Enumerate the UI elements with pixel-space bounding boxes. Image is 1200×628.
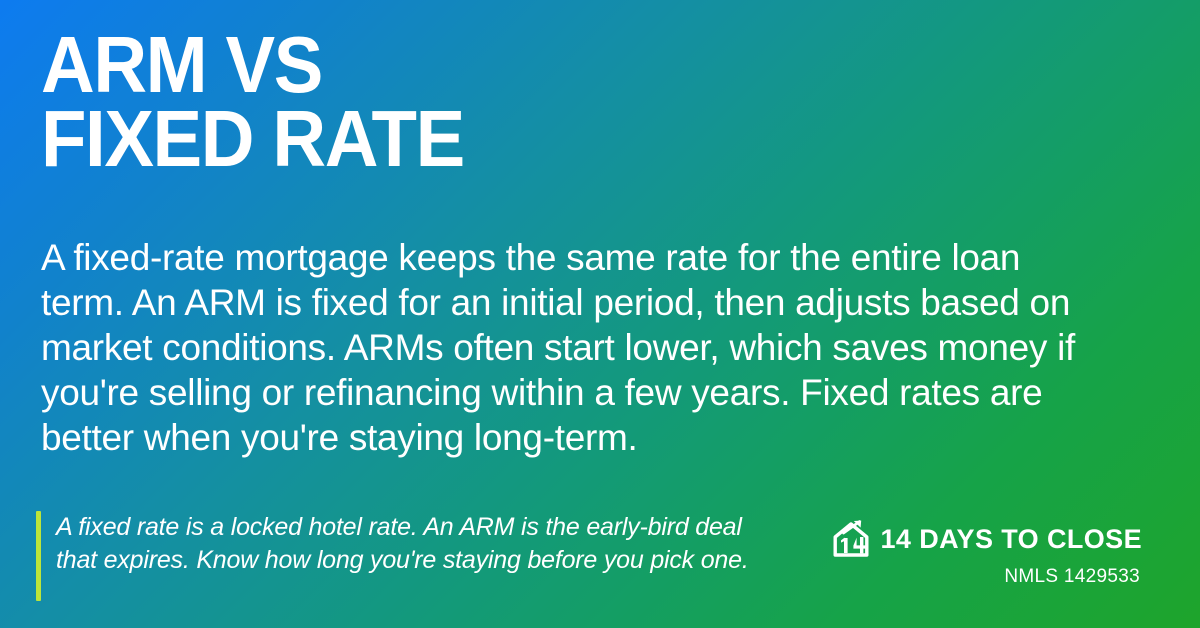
brand-name: 14 DAYS TO CLOSE bbox=[881, 526, 1143, 553]
headline-line-1: ARM VS bbox=[41, 28, 1055, 102]
brand-row: 14 DAYS TO CLOSE bbox=[832, 520, 1143, 558]
brand-nmls: NMLS 1429533 bbox=[832, 567, 1141, 586]
house-14-arrow-icon bbox=[832, 520, 872, 558]
quote-text: A fixed rate is a locked hotel rate. An … bbox=[41, 511, 756, 601]
promo-card: ARM VS FIXED RATE A fixed-rate mortgage … bbox=[0, 0, 1200, 628]
headline-line-2: FIXED RATE bbox=[41, 102, 1055, 176]
takeaway-quote: A fixed rate is a locked hotel rate. An … bbox=[36, 511, 756, 601]
brand-lockup: 14 DAYS TO CLOSE NMLS 1429533 bbox=[832, 520, 1143, 586]
body-paragraph: A fixed-rate mortgage keeps the same rat… bbox=[41, 235, 1111, 460]
page-title: ARM VS FIXED RATE bbox=[41, 28, 1131, 176]
